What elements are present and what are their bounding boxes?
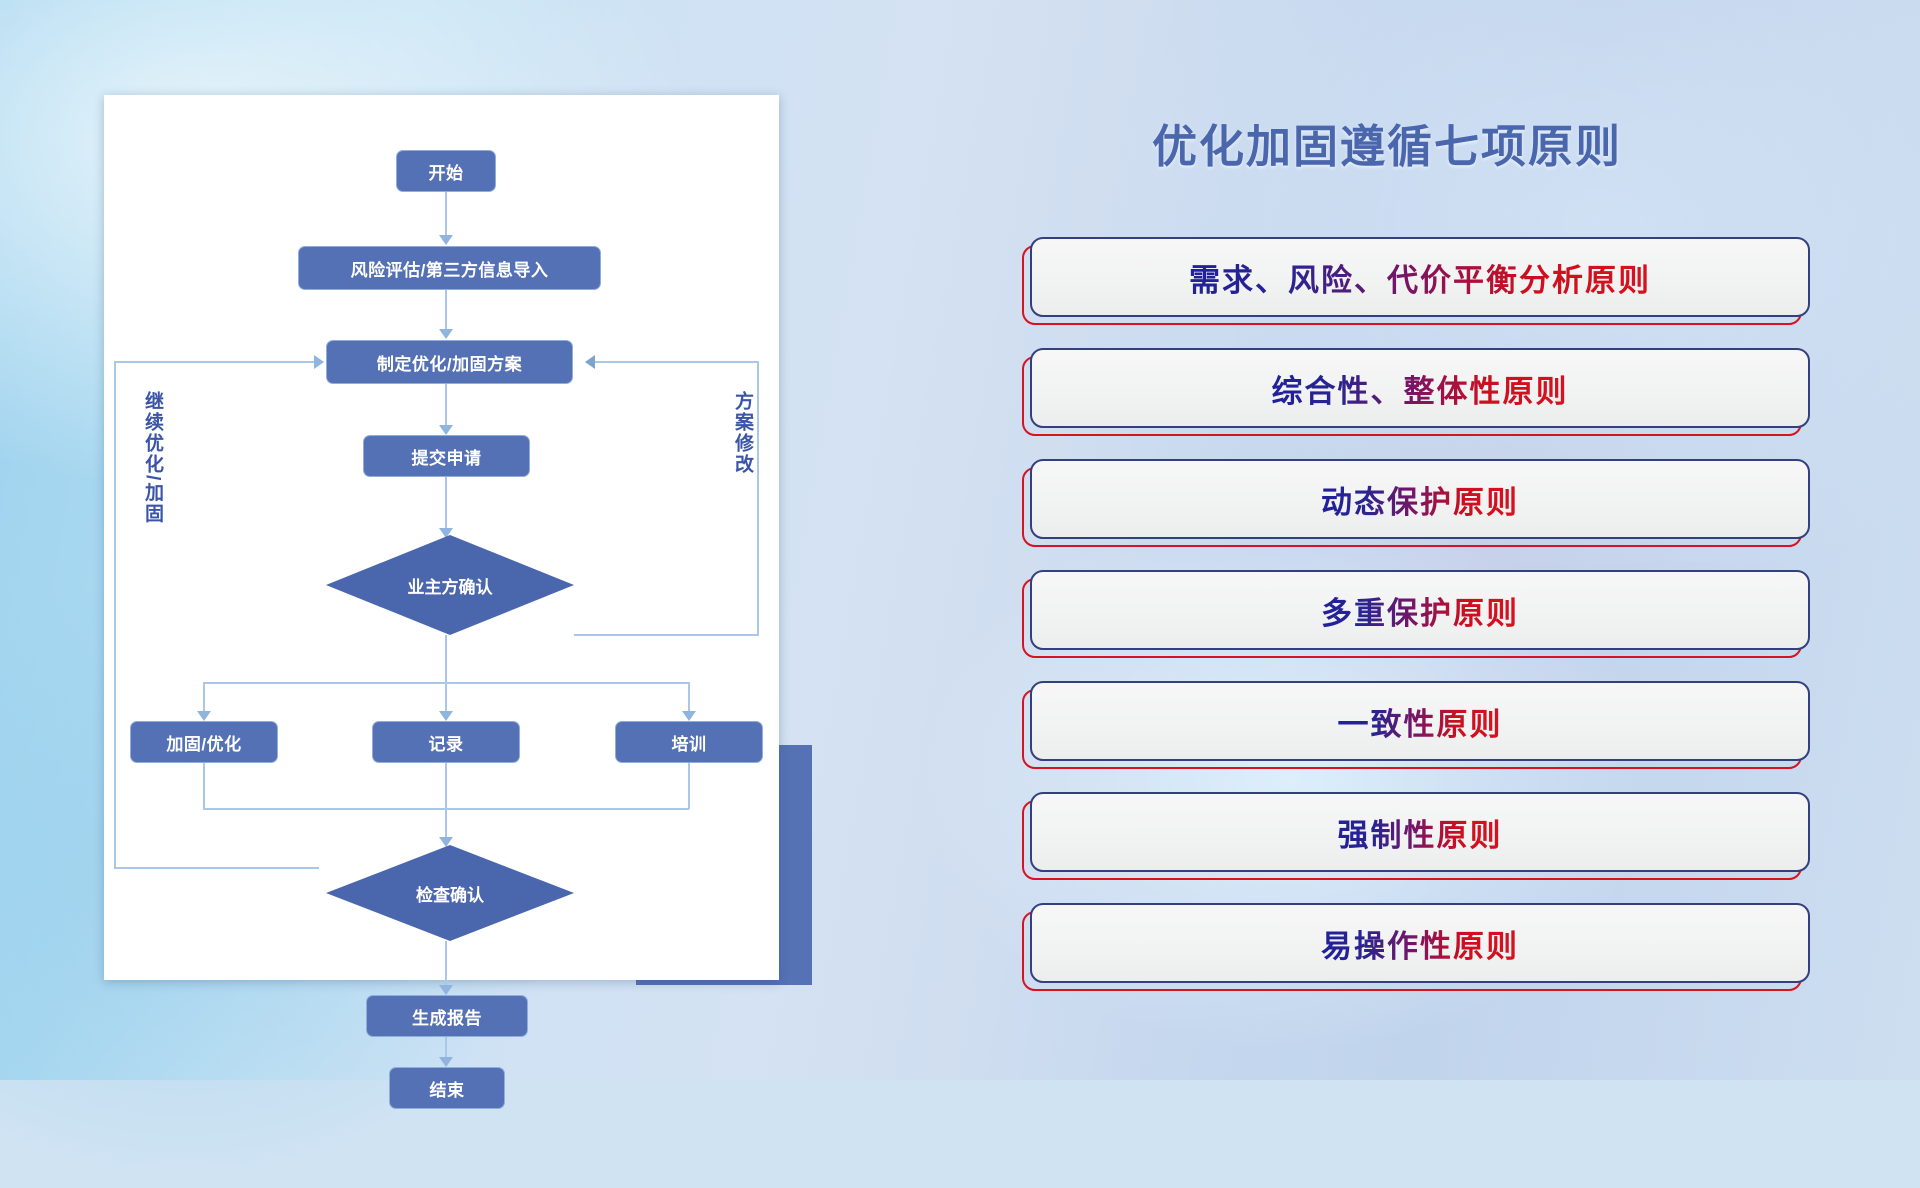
connector-left-loop-bottom — [114, 867, 319, 869]
principle-card[interactable]: 多重保护原则 — [1024, 570, 1814, 650]
flow-node-submit-label: 提交申请 — [412, 444, 482, 469]
principle-card-face: 综合性、整体性原则 — [1030, 348, 1810, 428]
principle-card[interactable]: 易操作性原则 — [1024, 903, 1814, 983]
arrow-to-reinforce — [197, 711, 211, 721]
connector-record-down — [445, 763, 447, 809]
principle-card-face: 易操作性原则 — [1030, 903, 1810, 983]
flow-edge-label-left-loop: 继续优化/加固 — [142, 391, 162, 524]
flow-node-start-label: 开始 — [429, 159, 464, 184]
connector-start-to-risk — [445, 192, 447, 239]
flow-node-plan-label: 制定优化/加固方案 — [377, 350, 522, 375]
arrow-plan-to-submit — [439, 425, 453, 435]
principles-title: 优化加固遵循七项原则 — [1152, 110, 1622, 175]
connector-right-loop-vertical — [757, 361, 759, 635]
flow-node-plan[interactable]: 制定优化/加固方案 — [326, 340, 573, 384]
connector-left-loop-top — [114, 361, 314, 363]
flowchart-panel: 开始 风险评估/第三方信息导入 制定优化/加固方案 继续优化/加固 方案修改 — [104, 95, 779, 980]
principle-label: 一致性原则 — [1338, 699, 1503, 744]
flow-node-record[interactable]: 记录 — [372, 721, 520, 763]
arrow-left-loop-into-plan — [314, 355, 324, 369]
principles-list: 需求、风险、代价平衡分析原则 综合性、整体性原则 动态保护原则 多重保护原则 一… — [1024, 237, 1814, 1014]
principle-card-face: 一致性原则 — [1030, 681, 1810, 761]
principle-card[interactable]: 需求、风险、代价平衡分析原则 — [1024, 237, 1814, 317]
flow-node-check-confirm[interactable]: 检查确认 — [326, 845, 574, 941]
connector-reinforce-down — [203, 763, 205, 809]
flow-node-check-confirm-label: 检查确认 — [416, 881, 484, 906]
flow-node-start[interactable]: 开始 — [396, 150, 496, 192]
connector-submit-to-owner — [445, 477, 447, 532]
flow-node-training[interactable]: 培训 — [615, 721, 763, 763]
flow-edge-label-right-loop: 方案修改 — [732, 391, 752, 475]
connector-risk-to-plan — [445, 290, 447, 333]
arrow-check-to-report — [439, 985, 453, 995]
principle-card-face: 强制性原则 — [1030, 792, 1810, 872]
principle-label: 多重保护原则 — [1321, 588, 1519, 633]
connector-left-loop-vertical — [114, 362, 116, 868]
principle-label: 需求、风险、代价平衡分析原则 — [1189, 255, 1651, 300]
arrow-right-loop-into-plan — [585, 355, 595, 369]
connector-owner-fan-stem — [445, 635, 447, 683]
principle-card[interactable]: 综合性、整体性原则 — [1024, 348, 1814, 428]
principle-card[interactable]: 一致性原则 — [1024, 681, 1814, 761]
principle-label: 动态保护原则 — [1321, 477, 1519, 522]
principle-card[interactable]: 动态保护原则 — [1024, 459, 1814, 539]
connector-plan-to-submit — [445, 384, 447, 429]
flow-node-owner-confirm-label: 业主方确认 — [408, 573, 493, 598]
arrow-to-training — [682, 711, 696, 721]
connector-right-loop-bottom — [574, 634, 759, 636]
principle-label: 强制性原则 — [1338, 810, 1503, 855]
principle-label: 易操作性原则 — [1321, 921, 1519, 966]
flow-node-risk-assessment[interactable]: 风险评估/第三方信息导入 — [298, 246, 601, 290]
arrow-report-to-end — [439, 1057, 453, 1067]
flow-node-end[interactable]: 结束 — [389, 1067, 505, 1109]
flow-node-report[interactable]: 生成报告 — [366, 995, 528, 1037]
flow-node-owner-confirm[interactable]: 业主方确认 — [326, 535, 574, 635]
connector-training-down — [688, 763, 690, 809]
connector-check-to-report — [445, 941, 447, 989]
flow-node-end-label: 结束 — [430, 1076, 465, 1101]
principle-label: 综合性、整体性原则 — [1272, 366, 1569, 411]
principle-card-face: 需求、风险、代价平衡分析原则 — [1030, 237, 1810, 317]
flow-node-record-label: 记录 — [429, 730, 464, 755]
flowchart-stage: 开始 风险评估/第三方信息导入 制定优化/加固方案 继续优化/加固 方案修改 — [104, 95, 779, 980]
flow-node-reinforce[interactable]: 加固/优化 — [130, 721, 278, 763]
flow-node-submit[interactable]: 提交申请 — [363, 435, 530, 477]
principle-card-face: 动态保护原则 — [1030, 459, 1810, 539]
flow-node-risk-assessment-label: 风险评估/第三方信息导入 — [351, 256, 549, 281]
arrow-to-record — [439, 711, 453, 721]
connector-merge-stem — [445, 808, 447, 840]
arrow-start-to-risk — [439, 235, 453, 245]
flow-node-training-label: 培训 — [672, 730, 707, 755]
connector-right-loop-top — [595, 361, 759, 363]
principle-card[interactable]: 强制性原则 — [1024, 792, 1814, 872]
flow-node-reinforce-label: 加固/优化 — [166, 730, 241, 755]
arrow-risk-to-plan — [439, 329, 453, 339]
flow-node-report-label: 生成报告 — [412, 1004, 482, 1029]
principle-card-face: 多重保护原则 — [1030, 570, 1810, 650]
